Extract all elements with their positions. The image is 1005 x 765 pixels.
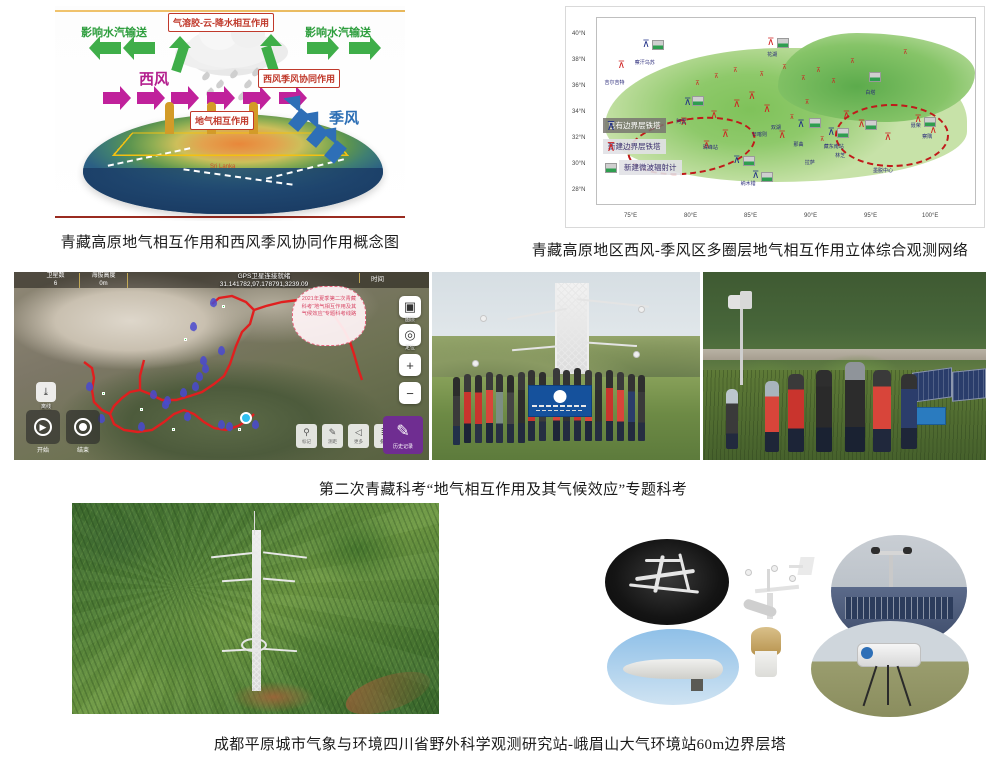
track-node (140, 408, 143, 411)
rain-drop (201, 71, 212, 82)
station-label: 纳木错 (741, 180, 756, 187)
label-westerly-monsoon-synergy: 西风季风协同作用 (258, 69, 340, 88)
altitude-value: 0m (86, 281, 121, 289)
microwave-radiometer-icon (652, 40, 664, 50)
label-westerly: 西风 (139, 68, 169, 89)
tower-red-icon: ⊼ (722, 130, 729, 140)
person (518, 372, 525, 443)
tower-blue-icon: ⊼ (684, 98, 691, 108)
vapor-arrow-left (99, 42, 121, 54)
tower-red-icon: ⊼ (710, 111, 717, 121)
track-node (102, 392, 105, 395)
person (628, 374, 635, 442)
tower-red-small-icon: ⊼ (760, 72, 764, 78)
tower-blue-icon: ⊼ (797, 120, 804, 130)
microwave-radiometer-icon (809, 118, 821, 128)
tower-red-small-icon: ⊼ (714, 74, 718, 80)
banner-text-line-1 (532, 405, 588, 407)
tower-red-small-icon: ⊼ (816, 68, 820, 74)
westerly-arrow-1 (103, 92, 121, 104)
caption-concept-diagram: 青藏高原地气相互作用和西风季风协同作用概念图 (55, 231, 405, 252)
instruments-collage (585, 533, 983, 719)
waypoint-pin[interactable] (86, 382, 93, 391)
rain-gauge-photo (743, 627, 803, 701)
label-monsoon: 季风 (329, 107, 359, 128)
person (475, 375, 482, 443)
station-label: 吉尔吉特 (605, 79, 625, 86)
y-tick-label: 38°N (572, 57, 585, 63)
station-label: 日喀则 (752, 131, 767, 138)
legend-label: 新建微波辐射计 (619, 160, 682, 175)
station-label: 白塔 (865, 89, 875, 96)
westerly-arrow-2-head (154, 86, 165, 110)
solar-panel (912, 367, 952, 403)
y-tick-label: 34°N (572, 109, 585, 115)
person (765, 381, 779, 452)
tower-blue-icon: ⊼ (733, 156, 740, 166)
stop-icon[interactable] (66, 410, 100, 444)
banner-text-line-2 (536, 410, 584, 412)
vapor-arrow-right (307, 42, 329, 54)
concept-diagram-panel: 气溶胶-云-降水相互作用 影响水汽输送 影响水汽输送 西风 季风 西风季风协同作… (55, 6, 405, 221)
station-label: 那曲 (794, 141, 804, 148)
waypoint-pin[interactable] (218, 346, 225, 355)
wind-vane-photo (737, 541, 829, 625)
microwave-radiometer-photo (811, 621, 969, 717)
tower-red-icon: ⊼ (778, 131, 785, 141)
lightning-rod (254, 511, 255, 534)
westerly-arrow-5-head (260, 86, 271, 110)
tower-platform-ring (241, 638, 267, 652)
x-tick-label: 85°E (744, 213, 757, 219)
vapor-arrow-right-2-head (370, 36, 381, 60)
microwave-radiometer-icon (777, 38, 789, 48)
altitude-label: 海拔高度 (86, 273, 121, 281)
westerly-arrow-1-head (120, 86, 131, 110)
surface-flux-arrow-1 (165, 102, 174, 134)
track-node (172, 428, 175, 431)
waypoint-pin[interactable] (190, 322, 197, 331)
station-label: 察汗乌苏 (635, 59, 655, 66)
label-sri-lanka: Sri Lanka (210, 164, 235, 170)
caption-chengdu-station: 成都平原城市气象与环境四川省野外科学观测研究站-峨眉山大气环境站60m边界层塔 (185, 733, 815, 754)
pencil-icon[interactable]: ✎ 测距 (322, 424, 343, 448)
waypoint-pin[interactable] (196, 372, 203, 381)
microwave-radiometer-icon (924, 117, 936, 127)
tower-red-icon: ⊼ (858, 120, 865, 130)
equipment-crate (912, 407, 946, 425)
westerly-arrow-3-head (188, 86, 199, 110)
station-label: 林芝 (835, 152, 845, 159)
rain-drop (243, 79, 254, 90)
person (638, 375, 645, 441)
history-button-label: 历史记录 (393, 443, 413, 450)
y-tick-label: 28°N (572, 187, 585, 193)
station-label: 藏东南站 (824, 143, 844, 150)
marker-button-label: 标记 (302, 439, 311, 445)
legend-row-existing-tower: ⊼ 已有边界层铁塔 (603, 117, 682, 134)
x-tick-label: 90°E (804, 213, 817, 219)
anemometer-icon (633, 351, 640, 358)
boundary-layer-tower-60m (252, 530, 261, 690)
waypoint-pin[interactable] (138, 422, 145, 431)
boundary-layer-tower (555, 283, 589, 373)
tower-red-icon: ⊼ (733, 100, 740, 110)
marker-icon[interactable]: ⚲ 标记 (296, 424, 317, 448)
waypoint-pin[interactable] (252, 420, 259, 429)
tower-red-small-icon: ⊼ (831, 79, 835, 85)
zoom-in-icon[interactable]: + (399, 354, 421, 376)
person (496, 374, 503, 444)
station-label: 聂荣 (911, 122, 921, 129)
person (788, 374, 804, 453)
tower-red-icon: ⊼ (843, 111, 850, 121)
altitude-readout: 海拔高度 0m (80, 273, 128, 288)
person (901, 374, 917, 449)
map-legend: ⊼ 已有边界层铁塔 ⊼ 新建边界层铁塔 新建微波辐射计 (603, 117, 682, 180)
waypoint-pin[interactable] (226, 422, 233, 431)
tower-red-icon: ⊼ (767, 38, 774, 48)
person (845, 362, 865, 452)
play-icon[interactable]: ▶ (26, 410, 60, 444)
edit-icon[interactable]: ✎ 历史记录 (383, 416, 423, 454)
person (486, 372, 493, 443)
map-plot-area: ⊼ ⊼ ⊼ ⊼ ⊼ ⊼ ⊼ ⊼ ⊼ ⊼ ⊼ ⊼ ⊼ ⊼ ⊼ ⊼ ⊼ ⊼ ⊼ ⊼ … (596, 17, 976, 205)
label-vapor-transport-right: 影响水汽输送 (305, 24, 371, 40)
microwave-radiometer-icon (692, 96, 704, 106)
waypoint-pin[interactable] (202, 364, 209, 373)
microwave-radiometer-icon (603, 163, 619, 173)
more-button-label: 更多 (354, 439, 363, 445)
track-node (184, 338, 187, 341)
tower-blue-icon: ⊼ (642, 40, 649, 50)
locate-icon[interactable]: ◎ (399, 324, 421, 346)
track-node (238, 428, 241, 431)
sensor-mast (740, 298, 743, 384)
tower-red-icon: ⊼ (748, 92, 755, 102)
tower-red-icon: ⊼ (603, 141, 619, 153)
satellite-count-readout: 卫星数 6 (32, 273, 80, 288)
measure-button-label: 测距 (328, 439, 337, 445)
sensor-housing-icon (740, 291, 752, 309)
tethered-balloon-photo (607, 629, 739, 705)
label-land-air-interaction: 地气相互作用 (190, 111, 254, 130)
bottom-rule (55, 216, 405, 218)
current-location-marker[interactable] (240, 412, 252, 424)
microwave-radiometer-icon (837, 128, 849, 138)
updraft-arrow-right-head (260, 34, 282, 46)
person (464, 374, 471, 444)
legend-row-new-tower: ⊼ 新建边界层铁塔 (603, 138, 682, 155)
person (816, 370, 832, 453)
waypoint-pin[interactable] (162, 400, 169, 409)
tower-red-small-icon: ⊼ (903, 50, 907, 56)
tower-red-small-icon: ⊼ (790, 115, 794, 121)
tower-red-icon: ⊼ (618, 61, 625, 71)
waypoint-pin[interactable] (150, 390, 157, 399)
satellite-count-label: 卫星数 (38, 273, 73, 281)
person (453, 377, 460, 445)
time-label: 时间 (359, 273, 395, 283)
y-tick-label: 36°N (572, 83, 585, 89)
westerly-arrow-3 (171, 92, 189, 104)
figure-page: 气溶胶-云-降水相互作用 影响水汽输送 影响水汽输送 西风 季风 西风季风协同作… (0, 0, 1005, 765)
westerly-arrow-2 (137, 92, 155, 104)
rain-drop (229, 69, 240, 80)
y-tick-label: 30°N (572, 161, 585, 167)
vapor-arrow-left-2 (133, 42, 155, 54)
gps-track-app-panel[interactable]: 卫星数 6 海拔高度 0m GPS卫星连接就绪 31.141782,97.178… (14, 272, 429, 460)
label-aerosol-cloud-precip: 气溶胶-云-降水相互作用 (168, 13, 274, 32)
person (606, 370, 613, 441)
layers-icon[interactable]: ▣ (399, 296, 421, 318)
tower-red-small-icon: ⊼ (805, 100, 809, 106)
caption-observation-network: 青藏高原地区西风-季风区多圈层地气相互作用立体综合观测网络 (505, 239, 995, 260)
tower-red-icon: ⊼ (763, 105, 770, 115)
zoom-out-icon[interactable]: − (399, 382, 421, 404)
speaker-icon[interactable]: ◁ 更多 (348, 424, 369, 448)
station-label: 墨脱中心 (873, 167, 893, 174)
x-tick-label: 95°E (864, 213, 877, 219)
station-label: 珠峰站 (703, 144, 718, 151)
person (595, 372, 602, 442)
westerly-arrow-4-head (224, 86, 235, 110)
satellite-count-value: 6 (38, 281, 73, 289)
tower-red-small-icon: ⊼ (850, 59, 854, 65)
legend-row-radiometer: 新建微波辐射计 (603, 159, 682, 176)
station-label: 察隅 (922, 133, 932, 140)
station-label: 拉萨 (805, 159, 815, 166)
waypoint-pin[interactable] (210, 298, 217, 307)
tower-red-small-icon: ⊼ (801, 76, 805, 82)
waypoint-pin[interactable] (180, 388, 187, 397)
microwave-radiometer-icon (761, 172, 773, 182)
updraft-arrow-left (171, 45, 189, 73)
station-label: 双湖 (771, 124, 781, 131)
tower-red-small-icon: ⊼ (695, 81, 699, 87)
observation-network-map-panel: ⊼ ⊼ ⊼ ⊼ ⊼ ⊼ ⊼ ⊼ ⊼ ⊼ ⊼ ⊼ ⊼ ⊼ ⊼ ⊼ ⊼ ⊼ ⊼ ⊼ … (565, 6, 985, 228)
waypoint-pin[interactable] (218, 420, 225, 429)
tower-red-small-icon: ⊼ (782, 65, 786, 71)
start-button-label: 开始 (26, 445, 60, 454)
tower-red-icon: ⊼ (884, 133, 891, 143)
end-button-label: 结束 (66, 445, 100, 454)
route-callout-bubble: 2021年夏季第二次青藏科考“地气相互作用及其气候效应”专题科考线路 (292, 286, 366, 346)
tower-base-clearing (233, 682, 314, 712)
label-vapor-transport-left: 影响水汽输送 (81, 24, 147, 40)
caption-expedition: 第二次青藏科考“地气相互作用及其气候效应”专题科考 (303, 478, 703, 499)
person (873, 370, 891, 453)
layers-button-label: 图层 (398, 316, 422, 323)
track-node (222, 305, 225, 308)
team-photo (432, 272, 700, 460)
download-icon[interactable]: ⤓ (36, 382, 56, 402)
person (507, 375, 514, 443)
offline-button-label: 离线 (34, 403, 58, 410)
solar-panel (952, 368, 986, 402)
y-tick-label: 32°N (572, 135, 585, 141)
tower-red-small-icon: ⊼ (733, 68, 737, 74)
microwave-radiometer-icon (865, 120, 877, 130)
tower-blue-icon: ⊼ (828, 128, 835, 138)
station-label: 花湖 (767, 51, 777, 58)
forest-tower-photo (72, 503, 439, 714)
updraft-arrow-left-head (169, 36, 191, 48)
x-tick-label: 80°E (684, 213, 697, 219)
x-tick-label: 100°E (922, 213, 938, 219)
tower-blue-icon: ⊼ (603, 120, 619, 132)
waypoint-pin[interactable] (192, 382, 199, 391)
sonic-anemometer-photo (605, 539, 729, 625)
waypoint-pin[interactable] (184, 412, 191, 421)
x-tick-label: 75°E (624, 213, 637, 219)
vapor-arrow-right-2 (349, 42, 371, 54)
y-tick-label: 40°N (572, 31, 585, 37)
expedition-banner (528, 385, 592, 417)
microwave-radiometer-icon (743, 156, 755, 166)
person (617, 372, 624, 442)
top-rule (55, 10, 405, 12)
expedition-emblem-icon (554, 390, 567, 403)
fieldwork-photo (703, 272, 986, 460)
microwave-radiometer-icon (869, 72, 881, 82)
locate-button-label: 定位 (398, 344, 422, 351)
person (726, 389, 738, 449)
